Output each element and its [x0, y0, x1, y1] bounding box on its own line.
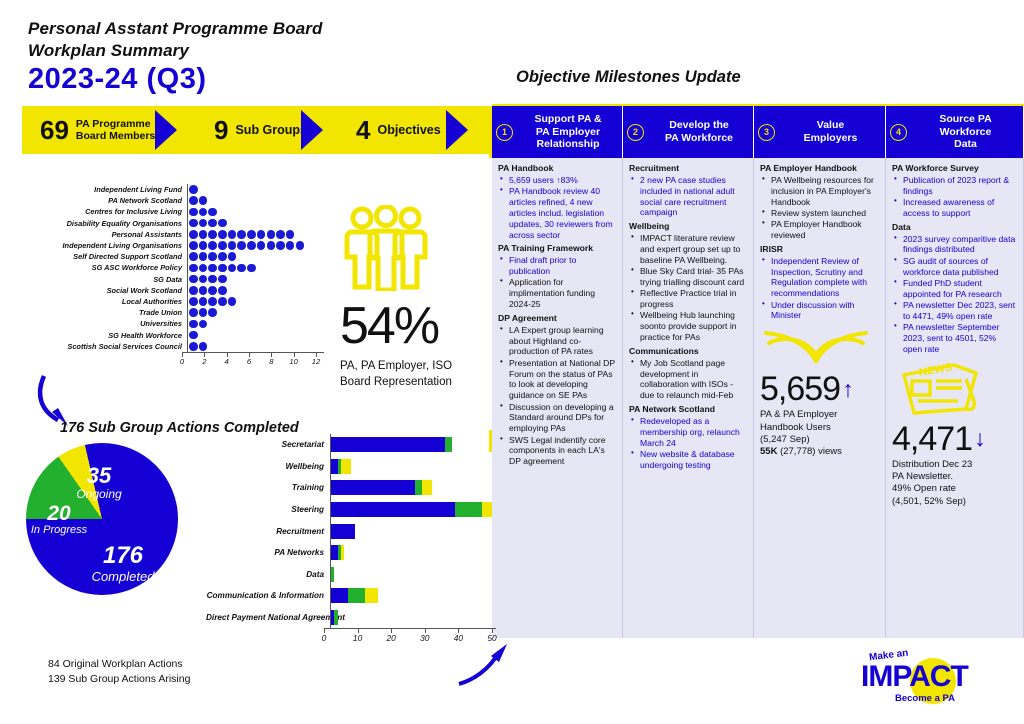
dot-marker	[218, 286, 227, 295]
dot-marker	[208, 219, 217, 228]
svg-text:NEWS: NEWS	[918, 361, 953, 379]
summary-band: 69 PA ProgrammeBoard Members 9 Sub Group…	[22, 106, 490, 154]
milestone-item: LA Expert group learning about Highland …	[500, 325, 616, 357]
axis-tick-label: 8	[269, 357, 273, 366]
milestone-group-heading: Recruitment	[629, 164, 747, 174]
milestone-item: PA Employer Handbook reviewed	[762, 219, 879, 241]
band-item-number: 9	[214, 117, 228, 143]
footnotes: 84 Original Workplan Actions 139 Sub Gro…	[48, 657, 190, 687]
dot-marker	[267, 230, 276, 239]
milestone-item: SG audit of sources of workforce data pu…	[894, 256, 1017, 278]
bar-chart-row: Recruitment	[206, 520, 496, 542]
milestone-group-heading: Data	[892, 223, 1017, 233]
caption-line-1: PA, PA Employer, ISO	[340, 359, 490, 375]
pie-slice-in-progress: 20 In Progress	[20, 503, 98, 536]
objective-number-badge: 3	[758, 124, 775, 141]
dot-marker	[218, 252, 227, 261]
milestone-group-heading: Communications	[629, 347, 747, 357]
dot-chart-label: Social Work Scotland	[34, 286, 187, 295]
stacked-bar	[331, 480, 432, 495]
dot-marker	[189, 185, 198, 194]
dot-marker	[199, 275, 208, 284]
dot-marker	[286, 241, 295, 250]
dot-marker	[199, 297, 208, 306]
dot-marker	[208, 308, 217, 317]
dot-chart-row: Universities	[34, 318, 324, 329]
dot-marker	[189, 342, 198, 351]
dot-marker	[208, 286, 217, 295]
infographic-page: Personal Asstant Programme Board Workpla…	[0, 0, 1024, 724]
stacked-bar	[331, 545, 344, 560]
dot-marker	[257, 241, 266, 250]
axis-tick-label: 20	[387, 633, 396, 643]
open-book-icon	[760, 327, 872, 367]
three-people-icon	[340, 205, 432, 291]
bar-segment-in-progress	[482, 502, 492, 517]
dot-marker	[296, 241, 305, 250]
milestone-item: Under discussion with Minister	[762, 300, 879, 322]
bar-segment-ongoing	[455, 502, 482, 517]
dot-marker	[228, 241, 237, 250]
band-item-number: 4	[356, 117, 370, 143]
dot-chart-label: Independent Living Fund	[34, 185, 187, 194]
dot-marker	[189, 230, 198, 239]
dot-marker	[199, 264, 208, 273]
objective-column-3: 3ValueEmployersPA Employer HandbookPA We…	[754, 106, 886, 638]
milestone-item: Funded PhD student appointed for PA rese…	[894, 278, 1017, 300]
dot-chart-x-axis: 024681012	[182, 352, 324, 369]
bar-chart-row: Direct Payment National Agreement	[206, 607, 496, 629]
milestone-group-heading: DP Agreement	[498, 314, 616, 324]
milestone-item: Increased awareness of access to support	[894, 197, 1017, 219]
dot-marker	[208, 264, 217, 273]
dot-chart-label: Personal Assistants	[34, 230, 187, 239]
dot-chart-dots	[187, 296, 324, 307]
bar-track	[330, 520, 496, 542]
milestone-item: 2 new PA case studies included in nation…	[631, 175, 747, 218]
dot-chart-label: Centres for Inclusive Living	[34, 207, 187, 216]
stacked-bar	[331, 459, 351, 474]
milestone-item: IMPACT literature review and expert grou…	[631, 233, 747, 265]
dot-chart-row: SG ASC Workforce Policy	[34, 262, 324, 273]
dot-marker	[286, 230, 295, 239]
dot-marker	[218, 264, 227, 273]
dot-chart-dots	[187, 251, 324, 262]
bar-chart-label: Data	[206, 570, 330, 579]
bar-chart-row: Wellbeing	[206, 456, 496, 478]
objective-number-badge: 4	[890, 124, 907, 141]
band-item-board-members: 69 PA ProgrammeBoard Members	[40, 106, 155, 154]
bar-track	[330, 434, 496, 456]
milestone-item: New website & database undergoing testin…	[631, 449, 747, 471]
dot-marker	[208, 208, 217, 217]
dot-chart-row: Trade Union	[34, 307, 324, 318]
board-membership-dot-chart: Independent Living FundPA Network Scotla…	[34, 184, 324, 369]
pie-slice-completed: 176 Completed	[78, 544, 168, 583]
chevron-arrow-icon-3	[446, 106, 472, 154]
dot-marker	[228, 264, 237, 273]
dot-marker	[199, 308, 208, 317]
bar-segment-completed	[331, 480, 415, 495]
dot-chart-label: Universities	[34, 319, 187, 328]
dot-marker	[276, 241, 285, 250]
dot-chart-row: SG Health Workforce	[34, 329, 324, 340]
dot-marker	[189, 286, 198, 295]
dot-marker	[218, 230, 227, 239]
milestone-group-heading: PA Training Framework	[498, 244, 616, 254]
dot-chart-row: Local Authorities	[34, 296, 324, 307]
objective-header-1[interactable]: 1Support PA &PA EmployerRelationship	[492, 106, 623, 158]
dot-marker	[208, 241, 217, 250]
milestone-item: Wellbeing Hub launching soonto provide s…	[631, 310, 747, 342]
axis-tick-label: 12	[312, 357, 320, 366]
dot-chart-row: Independent Living Organisations	[34, 240, 324, 251]
bar-track	[330, 564, 496, 586]
milestone-item: Application for implimentation funding 2…	[500, 277, 616, 309]
bar-chart-label: Communication & Information	[206, 591, 330, 600]
page-title-line1: Personal Asstant Programme Board	[28, 18, 323, 40]
milestone-list: IMPACT literature review and expert grou…	[631, 233, 747, 343]
page-title-line2: Workplan Summary	[28, 40, 323, 62]
dot-chart-dots	[187, 229, 324, 240]
stat-value-row: 5,659↑	[760, 372, 879, 406]
milestone-list: PA Wellbeing resources for inclusion in …	[762, 175, 879, 241]
dot-marker	[247, 241, 256, 250]
axis-tick-label: 4	[225, 357, 229, 366]
milestone-item: Reflective Practice trial in progress	[631, 288, 747, 310]
dot-marker	[218, 297, 227, 306]
dot-chart-row: Disability Equality Organisations	[34, 218, 324, 229]
band-item-objectives: 4 Objectives	[356, 106, 441, 154]
dot-marker	[199, 208, 208, 217]
objective-number-badge: 2	[627, 124, 644, 141]
bar-segment-completed	[331, 437, 445, 452]
dot-marker	[189, 308, 198, 317]
milestone-item: PA Wellbeing resources for inclusion in …	[762, 175, 879, 207]
dot-marker	[208, 230, 217, 239]
page-subtitle-year: 2023-24 (Q3)	[28, 63, 207, 96]
axis-tick-label: 30	[420, 633, 429, 643]
axis-tick-label: 10	[289, 357, 297, 366]
dot-marker	[189, 320, 198, 329]
dot-marker	[237, 264, 246, 273]
board-representation-stat: 54% PA, PA Employer, ISO Board Represent…	[340, 205, 490, 390]
objective-header-2[interactable]: 2Develop thePA Workforce	[623, 106, 754, 158]
bar-chart-label: PA Networks	[206, 548, 330, 557]
objectives-section-title: Objective Milestones Update	[516, 68, 741, 87]
milestone-item: 2023 survey comparitive data findings di…	[894, 234, 1017, 256]
bar-chart-label: Training	[206, 483, 330, 492]
dot-chart-dots	[187, 262, 324, 273]
dot-chart-dots	[187, 329, 324, 340]
dot-marker	[228, 297, 237, 306]
dot-marker	[199, 230, 208, 239]
dot-marker	[199, 342, 208, 351]
dot-chart-label: SG Health Workforce	[34, 331, 187, 340]
objective-stat-3: 5,659↑PA & PA EmployerHandbook Users(5,2…	[760, 327, 879, 458]
bar-segment-ongoing	[331, 567, 334, 582]
objective-title: ValueEmployers	[780, 119, 881, 145]
dot-chart-dots	[187, 318, 324, 329]
dot-chart-dots	[187, 307, 324, 318]
dot-marker	[218, 219, 227, 228]
dot-marker	[247, 230, 256, 239]
dot-marker	[199, 320, 208, 329]
milestone-list: Publication of 2023 report & findingsInc…	[894, 175, 1017, 219]
dot-marker	[189, 208, 198, 217]
stacked-bar	[331, 610, 338, 625]
bar-segment-ongoing	[415, 480, 422, 495]
milestone-item: PA Handbook review 40 articles refined, …	[500, 186, 616, 240]
bar-track	[330, 499, 496, 521]
milestone-item: Presentation at National DP Forum on the…	[500, 358, 616, 401]
milestone-list: 5,659 users ↑83%PA Handbook review 40 ar…	[500, 175, 616, 240]
bar-track	[330, 477, 496, 499]
bar-chart-row: PA Networks	[206, 542, 496, 564]
milestone-list: 2023 survey comparitive data findings di…	[894, 234, 1017, 355]
milestone-group-heading: PA Employer Handbook	[760, 164, 879, 174]
objective-stat-4: NEWS4,471↓Distribution Dec 23PA Newslett…	[892, 361, 1017, 508]
bar-track	[330, 456, 496, 478]
newspaper-icon: NEWS	[892, 361, 982, 417]
dot-marker	[267, 241, 276, 250]
dot-marker	[208, 297, 217, 306]
trend-down-arrow-icon: ↓	[974, 427, 985, 450]
milestone-item: My Job Scotland page development in coll…	[631, 358, 747, 401]
objective-column-4: 4Source PAWorkforceDataPA Workforce Surv…	[886, 106, 1024, 638]
footnote-original-actions: 84 Original Workplan Actions	[48, 657, 190, 672]
chevron-arrow-icon-2	[301, 106, 327, 154]
stat-caption-line-3: (5,247 Sep)	[760, 434, 879, 446]
bar-track	[330, 585, 496, 607]
band-item-label: Objectives	[377, 123, 440, 137]
stacked-bar	[331, 567, 334, 582]
milestone-group-heading: PA Workforce Survey	[892, 164, 1017, 174]
stat-caption-line-2: Handbook Users	[760, 422, 879, 434]
bar-chart-row: Secretariat	[206, 434, 496, 456]
bar-chart-label: Recruitment	[206, 527, 330, 536]
dot-marker	[199, 286, 208, 295]
dot-marker	[228, 230, 237, 239]
dot-chart-label: Trade Union	[34, 308, 187, 317]
dot-marker	[208, 275, 217, 284]
pie-slice-ongoing: 35 Ongoing	[64, 465, 134, 500]
milestone-list: Final draft prior to publicationApplicat…	[500, 255, 616, 310]
bar-chart-row: Communication & Information	[206, 585, 496, 607]
stat-caption-line-1: PA & PA Employer	[760, 409, 879, 421]
band-item-label: Sub Groups	[235, 123, 307, 137]
dot-chart-dots	[187, 274, 324, 285]
milestone-item: SWS Legal indentify core components in e…	[500, 435, 616, 467]
bar-chart-label: Direct Payment National Agreement	[206, 613, 330, 622]
dot-chart-label: SG Data	[34, 275, 187, 284]
band-item-label: PA ProgrammeBoard Members	[76, 118, 155, 142]
bar-segment-in-progress	[341, 545, 344, 560]
dot-marker	[218, 275, 227, 284]
dot-marker	[189, 196, 198, 205]
dot-marker	[199, 241, 208, 250]
stacked-bar	[331, 502, 492, 517]
chevron-arrow-icon-1	[155, 106, 181, 154]
milestone-list: My Job Scotland page development in coll…	[631, 358, 747, 401]
dot-chart-row: SG Data	[34, 274, 324, 285]
bar-chart-row: Training	[206, 477, 496, 499]
axis-tick-label: 2	[202, 357, 206, 366]
dot-chart-row: Scottish Social Services Council	[34, 341, 324, 352]
dot-chart-dots	[187, 184, 324, 195]
axis-tick-label: 10	[353, 633, 362, 643]
bar-segment-ongoing	[334, 610, 337, 625]
dot-chart-dots	[187, 195, 324, 206]
bar-chart-label: Wellbeing	[206, 462, 330, 471]
dot-marker	[237, 241, 246, 250]
dot-chart-row: PA Network Scotland	[34, 195, 324, 206]
bar-segment-in-progress	[341, 459, 351, 474]
dot-marker	[199, 219, 208, 228]
bar-segment-completed	[331, 459, 338, 474]
dot-chart-label: Scottish Social Services Council	[34, 342, 187, 351]
dot-marker	[199, 252, 208, 261]
objective-title: Develop thePA Workforce	[649, 119, 749, 145]
band-item-sub-groups: 9 Sub Groups	[214, 106, 307, 154]
milestone-group-heading: PA Handbook	[498, 164, 616, 174]
milestone-item: 5,659 users ↑83%	[500, 175, 616, 186]
stat-caption-line-4: (4,501, 52% Sep)	[892, 496, 1017, 508]
dot-chart-dots	[187, 285, 324, 296]
bar-segment-in-progress	[365, 588, 378, 603]
milestone-item: Review system launched	[762, 208, 879, 219]
dot-chart-row: Personal Assistants	[34, 229, 324, 240]
milestone-item: PA newsletter September 2023, sent to 45…	[894, 322, 1017, 354]
stat-value-row: 4,471↓	[892, 422, 1017, 456]
objective-header-3[interactable]: 3ValueEmployers	[754, 106, 886, 158]
dot-marker	[189, 219, 198, 228]
bar-segment-ongoing	[445, 437, 452, 452]
milestone-item: Discussion on developing a Standard arou…	[500, 402, 616, 434]
milestone-list: LA Expert group learning about Highland …	[500, 325, 616, 467]
board-representation-value: 54%	[340, 300, 490, 352]
bar-track	[330, 607, 496, 629]
objective-body-1: PA Handbook5,659 users ↑83%PA Handbook r…	[492, 158, 623, 638]
dot-chart-label: SG ASC Workforce Policy	[34, 263, 187, 272]
stacked-bar	[331, 437, 452, 452]
objective-number-badge: 1	[496, 124, 513, 141]
curved-arrow-up-icon	[455, 640, 515, 690]
dot-marker	[189, 331, 198, 340]
milestone-item: Publication of 2023 report & findings	[894, 175, 1017, 197]
objective-body-3: PA Employer HandbookPA Wellbeing resourc…	[754, 158, 886, 638]
milestone-item: Independent Review of Inspection, Scruti…	[762, 256, 879, 299]
objective-title: Source PAWorkforceData	[912, 113, 1019, 151]
logo-bottom-text: Become a PA	[895, 693, 955, 704]
bar-segment-completed	[331, 588, 348, 603]
stacked-bar	[331, 524, 355, 539]
stat-value: 5,659	[760, 372, 840, 406]
milestone-item: PA newsletter Dec 2023, sent to 4471, 49…	[894, 300, 1017, 322]
objective-body-4: PA Workforce SurveyPublication of 2023 r…	[886, 158, 1024, 638]
milestone-item: Redeveloped as a membership org, relaunc…	[631, 416, 747, 448]
stat-caption-line-3: 49% Open rate	[892, 483, 1017, 495]
impact-logo: Make an IMPACT Become a PA	[855, 648, 1019, 714]
dot-marker	[276, 230, 285, 239]
dot-chart-label: PA Network Scotland	[34, 196, 187, 205]
dot-marker	[247, 264, 256, 273]
milestone-item: Final draft prior to publication	[500, 255, 616, 277]
stacked-bar	[331, 588, 378, 603]
dot-chart-label: Self Directed Support Scotland	[34, 252, 187, 261]
dot-chart-dots	[187, 206, 324, 217]
dot-marker	[199, 196, 208, 205]
dot-chart-dots	[187, 341, 324, 352]
logo-wordmark: IMPACT	[861, 660, 968, 694]
dot-chart-dots	[187, 218, 324, 229]
milestone-group-heading: PA Network Scotland	[629, 405, 747, 415]
band-item-number: 69	[40, 117, 69, 143]
dot-marker	[237, 230, 246, 239]
bar-chart-label: Secretariat	[206, 440, 330, 449]
axis-tick-label: 6	[247, 357, 251, 366]
footnote-arising-actions: 139 Sub Group Actions Arising	[48, 672, 190, 687]
axis-tick-label: 0	[180, 357, 184, 366]
stat-caption: Distribution Dec 23PA Newsletter.49% Ope…	[892, 459, 1017, 508]
dot-chart-dots	[187, 240, 324, 251]
dot-marker	[189, 297, 198, 306]
stat-caption-line-2: PA Newsletter.	[892, 471, 1017, 483]
dot-marker	[208, 252, 217, 261]
objective-column-2: 2Develop thePA WorkforceRecruitment2 new…	[623, 106, 754, 638]
page-title: Personal Asstant Programme Board Workpla…	[28, 18, 323, 62]
milestone-list: Independent Review of Inspection, Scruti…	[762, 256, 879, 321]
caption-line-2: Board Representation	[340, 375, 490, 391]
milestone-list: 2 new PA case studies included in nation…	[631, 175, 747, 218]
dot-chart-label: Local Authorities	[34, 297, 187, 306]
dot-chart-label: Disability Equality Organisations	[34, 219, 187, 228]
milestone-list: Redeveloped as a membership org, relaunc…	[631, 416, 747, 471]
stat-value: 4,471	[892, 422, 972, 456]
dot-marker	[218, 241, 227, 250]
dot-marker	[189, 264, 198, 273]
board-representation-caption: PA, PA Employer, ISO Board Representatio…	[340, 359, 490, 390]
sub-group-actions-bar-chart: SecretariatWellbeingTrainingSteeringRecr…	[206, 434, 496, 666]
stat-caption: PA & PA EmployerHandbook Users(5,247 Sep…	[760, 409, 879, 458]
objective-header-4[interactable]: 4Source PAWorkforceData	[886, 106, 1024, 158]
dot-marker	[189, 252, 198, 261]
objective-column-1: 1Support PA &PA EmployerRelationshipPA H…	[492, 106, 623, 638]
dot-marker	[228, 252, 237, 261]
trend-up-arrow-icon: ↑	[842, 378, 853, 401]
milestone-group-heading: Wellbeing	[629, 222, 747, 232]
dot-marker	[257, 230, 266, 239]
milestone-group-heading: IRISR	[760, 245, 879, 255]
bar-chart-label: Steering	[206, 505, 330, 514]
dot-chart-row: Independent Living Fund	[34, 184, 324, 195]
bar-track	[330, 542, 496, 564]
dot-marker	[189, 241, 198, 250]
bar-chart-row: Steering	[206, 499, 496, 521]
dot-chart-row: Self Directed Support Scotland	[34, 251, 324, 262]
dot-marker	[189, 275, 198, 284]
bar-segment-completed	[331, 502, 455, 517]
stat-caption-line-4: 55K (27,778) views	[760, 446, 879, 458]
dot-chart-label: Independent Living Organisations	[34, 241, 187, 250]
bar-segment-ongoing	[348, 588, 365, 603]
bar-segment-completed	[331, 545, 338, 560]
objective-title: Support PA &PA EmployerRelationship	[518, 113, 618, 151]
axis-tick-label: 0	[322, 633, 327, 643]
dot-chart-row: Centres for Inclusive Living	[34, 206, 324, 217]
objective-body-2: Recruitment2 new PA case studies include…	[623, 158, 754, 638]
dot-chart-row: Social Work Scotland	[34, 285, 324, 296]
